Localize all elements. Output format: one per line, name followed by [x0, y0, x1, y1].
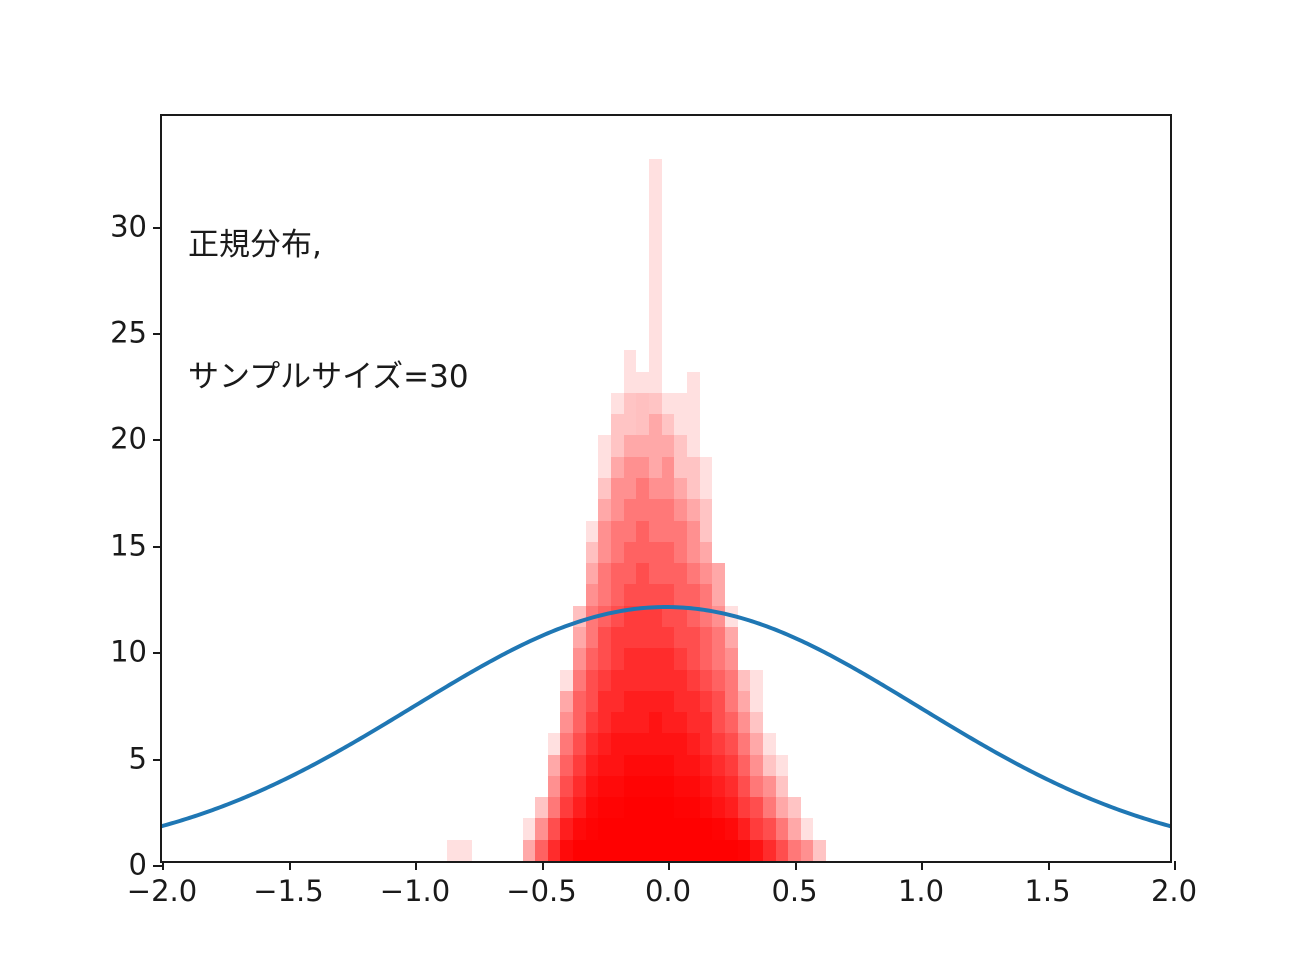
annotation-line-2: サンプルサイズ=30 [188, 355, 469, 399]
figure-canvas: 051015202530 −2.0−1.5−1.0−0.50.00.51.01.… [0, 0, 1300, 971]
x-tick-label: −0.5 [506, 877, 576, 906]
x-tick-label: 0.5 [771, 877, 817, 906]
y-tick-label: 25 [110, 319, 147, 348]
x-tick-label: 0.0 [645, 877, 691, 906]
x-tick-label: −1.5 [253, 877, 323, 906]
y-tick-mark [153, 227, 162, 229]
y-tick-mark [153, 652, 162, 654]
x-tick-label: 1.5 [1024, 877, 1070, 906]
x-tick-mark [542, 861, 544, 870]
x-tick-mark [415, 861, 417, 870]
x-tick-mark [1048, 861, 1050, 870]
x-tick-mark [1174, 861, 1176, 870]
y-tick-mark [153, 333, 162, 335]
y-tick-label: 30 [110, 212, 147, 241]
x-tick-mark [289, 861, 291, 870]
x-tick-mark [668, 861, 670, 870]
x-tick-mark [162, 861, 164, 870]
y-tick-mark [153, 439, 162, 441]
x-tick-mark [921, 861, 923, 870]
x-tick-mark [795, 861, 797, 870]
y-tick-mark [153, 546, 162, 548]
normal-density-curve [162, 607, 1170, 826]
x-tick-label: 2.0 [1151, 877, 1197, 906]
x-tick-label: 1.0 [898, 877, 944, 906]
annotation-line-1: 正規分布, [188, 223, 469, 267]
y-tick-label: 5 [129, 744, 147, 773]
annotation-text: 正規分布, サンプルサイズ=30 [188, 135, 469, 487]
x-tick-label: −1.0 [380, 877, 450, 906]
y-tick-mark [153, 865, 162, 867]
y-tick-mark [153, 759, 162, 761]
y-tick-label: 20 [110, 425, 147, 454]
y-tick-label: 15 [110, 531, 147, 560]
x-tick-label: −2.0 [127, 877, 197, 906]
plot-axes: 051015202530 −2.0−1.5−1.0−0.50.00.51.01.… [160, 114, 1172, 863]
y-tick-label: 10 [110, 638, 147, 667]
